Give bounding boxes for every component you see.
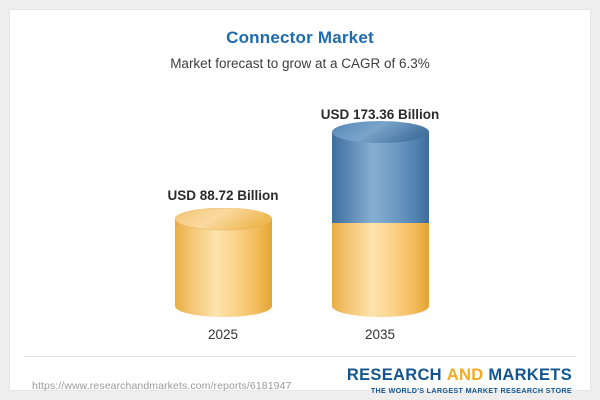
source-url[interactable]: https://www.researchandmarkets.com/repor…	[32, 380, 291, 392]
research-and-markets-logo[interactable]: RESEARCH AND MARKETS THE WORLD'S LARGEST…	[347, 367, 572, 395]
chart-card: Connector Market Market forecast to grow…	[10, 10, 590, 390]
logo-word-markets: MARKETS	[488, 366, 572, 384]
data-label-2035: USD 173.36 Billion	[270, 107, 490, 122]
footer-divider	[24, 356, 576, 357]
logo-tagline: THE WORLD'S LARGEST MARKET RESEARCH STOR…	[347, 386, 572, 395]
chart-plot-area: USD 88.72 Billion	[10, 10, 590, 340]
cylinder-bar-2035[interactable]	[332, 121, 429, 320]
category-label-2035: 2035	[270, 327, 490, 342]
data-label-2025: USD 88.72 Billion	[113, 188, 333, 203]
logo-wordmark: RESEARCH AND MARKETS	[347, 367, 572, 384]
logo-word-and: AND	[447, 366, 484, 384]
logo-word-research: RESEARCH	[347, 366, 442, 384]
cylinder-bar-2025[interactable]	[175, 208, 272, 320]
